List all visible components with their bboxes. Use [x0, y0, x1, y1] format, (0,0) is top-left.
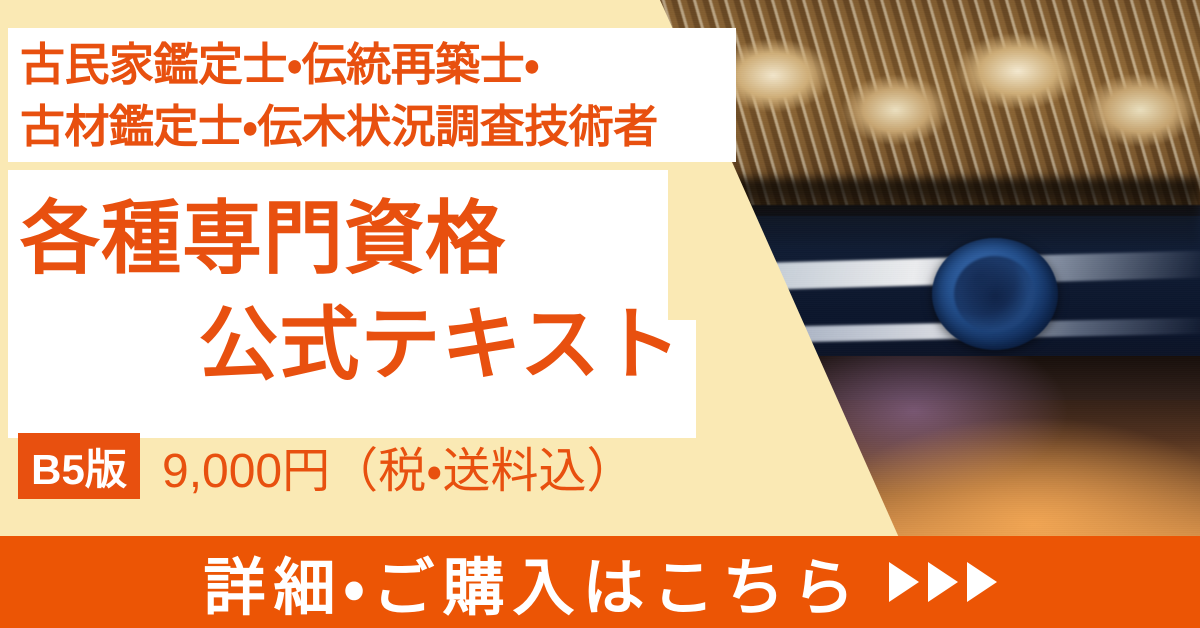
cta-label: 詳細・ご購入はこちら: [203, 537, 862, 627]
page-title: 古民家鑑定士・伝統再築士・ 古材鑑定士・伝木状況調査技術者: [20, 34, 732, 158]
price-text: 9,000円（税・送料込）: [162, 431, 634, 501]
triangle-right-icon: [889, 562, 919, 602]
cta-arrows: [889, 562, 997, 602]
format-badge: B5版: [18, 433, 140, 499]
subheadline-line-1: 各種専門資格: [20, 186, 688, 292]
promo-banner: 伝統構法 古民家活用のための調査と再生の 古民家 古民家鑑定士・伝統再築士・ 古…: [0, 0, 1200, 628]
triangle-right-icon: [928, 562, 958, 602]
headline-line-2: 古材鑑定士・伝木状況調査技術者: [20, 96, 732, 158]
subtitle: 各種専門資格 公式テキスト: [20, 186, 688, 397]
subheadline-line-2: 公式テキスト: [20, 292, 688, 398]
headline-line-1: 古民家鑑定士・伝統再築士・: [20, 34, 732, 96]
price-row: B5版 9,000円（税・送料込）: [18, 432, 634, 500]
cta-bar[interactable]: 詳細・ご購入はこちら: [0, 536, 1200, 628]
triangle-right-icon: [967, 562, 997, 602]
